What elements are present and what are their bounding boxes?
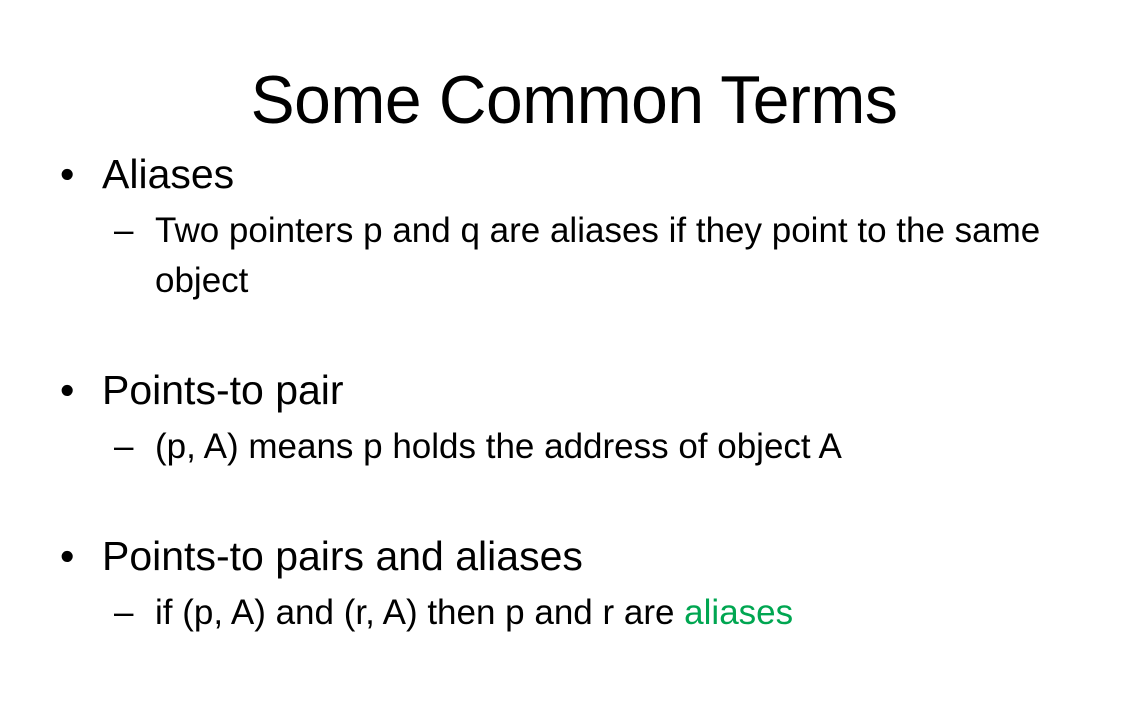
- slide-body: • Aliases – Two pointers p and q are ali…: [52, 148, 1112, 638]
- bullet-item-level1: • Points-to pairs and aliases: [52, 530, 1112, 582]
- bullet-item-level1: • Points-to pair: [52, 364, 1112, 416]
- bullet-level2-label: if (p, A) and (r, A) then p and r are al…: [155, 588, 1055, 638]
- bullet-group: • Points-to pairs and aliases – if (p, A…: [52, 530, 1112, 638]
- bullet-item-level2: – if (p, A) and (r, A) then p and r are …: [52, 588, 1112, 638]
- bullet-dash-icon: –: [114, 206, 133, 256]
- bullet-level2-text-plain: if (p, A) and (r, A) then p and r are: [155, 593, 684, 632]
- bullet-dot-icon: •: [60, 364, 74, 416]
- bullet-dash-icon: –: [114, 422, 133, 472]
- bullet-item-level2: – Two pointers p and q are aliases if th…: [52, 206, 1112, 306]
- presentation-slide: Some Common Terms • Aliases – Two pointe…: [0, 0, 1148, 728]
- bullet-level2-label: Two pointers p and q are aliases if they…: [155, 206, 1055, 306]
- bullet-level2-label: (p, A) means p holds the address of obje…: [155, 422, 1055, 472]
- bullet-dash-icon: –: [114, 588, 133, 638]
- bullet-dot-icon: •: [60, 148, 74, 200]
- bullet-level1-label: Aliases: [102, 151, 234, 197]
- bullet-level1-label: Points-to pairs and aliases: [102, 533, 583, 579]
- bullet-group: • Points-to pair – (p, A) means p holds …: [52, 364, 1112, 472]
- bullet-dot-icon: •: [60, 530, 74, 582]
- bullet-level1-label: Points-to pair: [102, 367, 344, 413]
- bullet-item-level2: – (p, A) means p holds the address of ob…: [52, 422, 1112, 472]
- highlighted-term: aliases: [684, 593, 793, 632]
- bullet-group: • Aliases – Two pointers p and q are ali…: [52, 148, 1112, 306]
- bullet-item-level1: • Aliases: [52, 148, 1112, 200]
- page-title: Some Common Terms: [17, 60, 1131, 140]
